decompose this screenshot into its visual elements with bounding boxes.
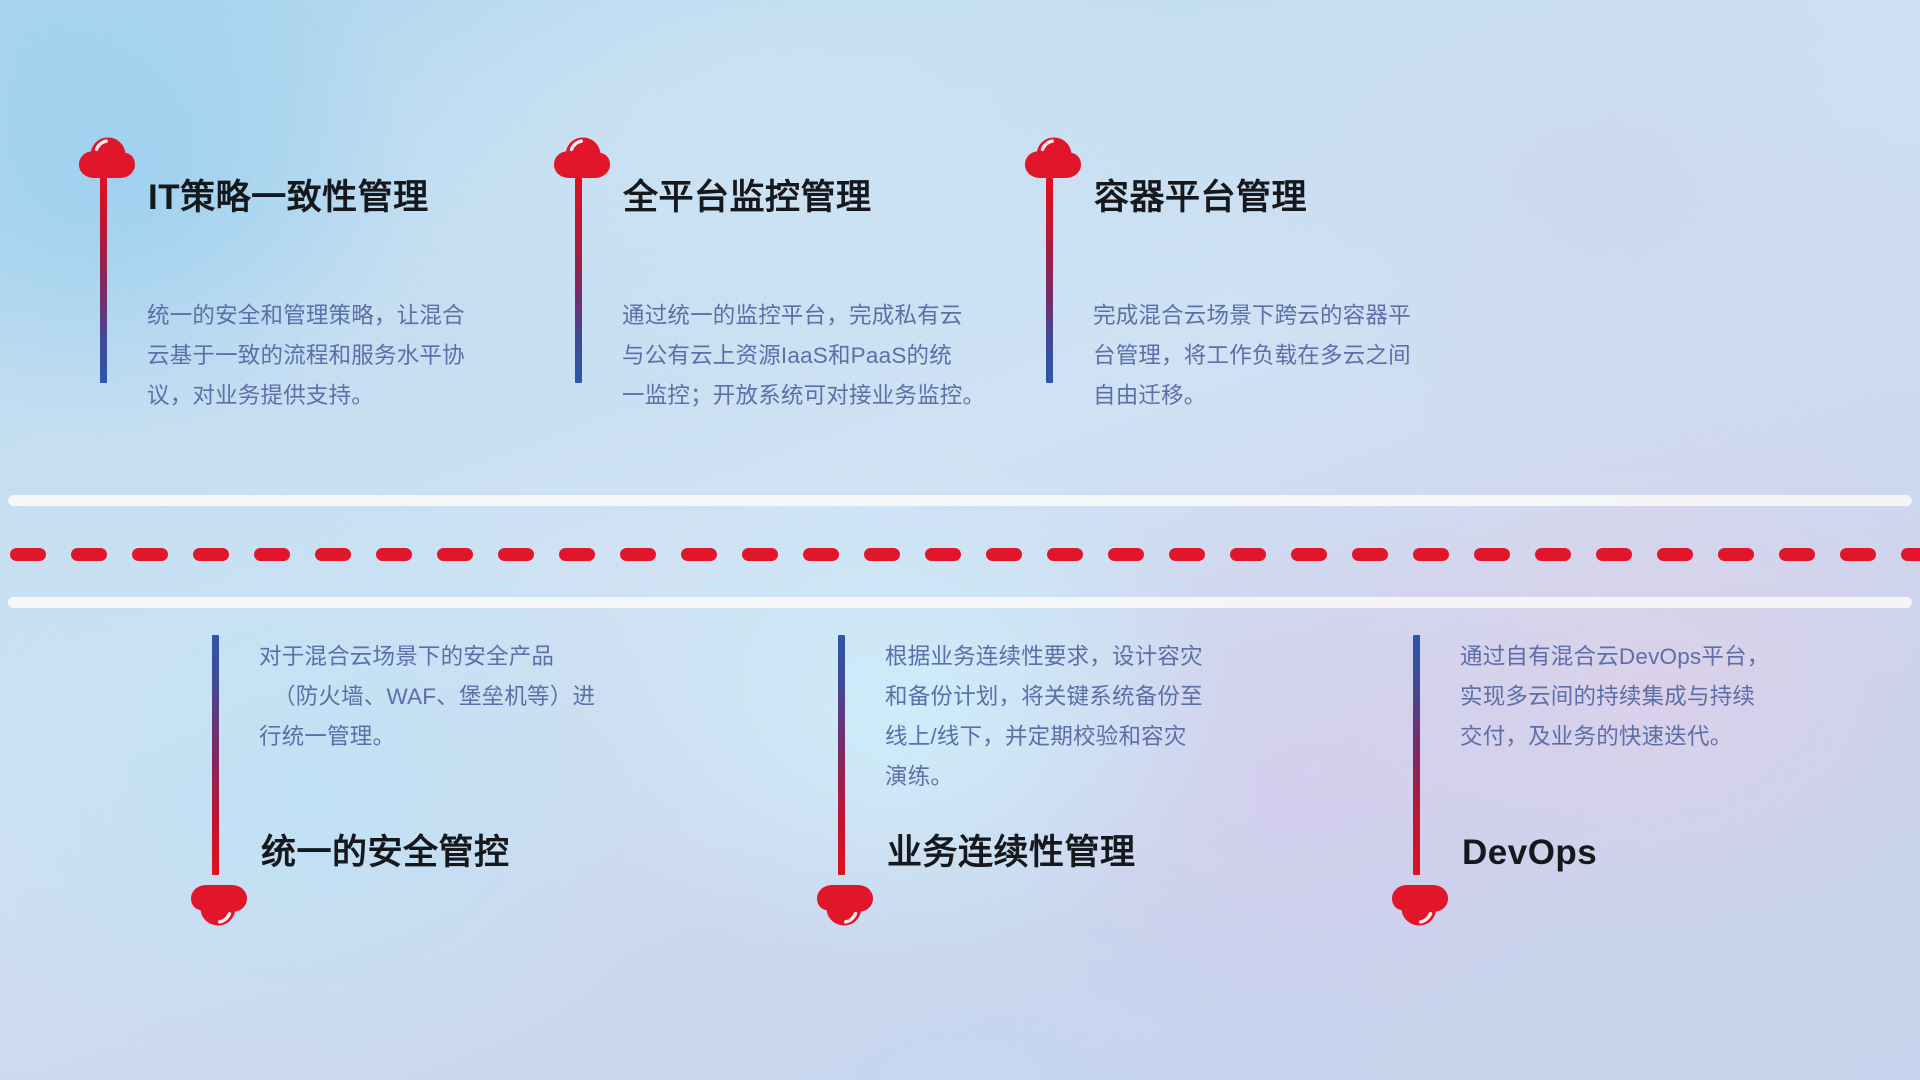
divider-dash	[437, 548, 473, 561]
divider-dash	[1779, 548, 1815, 561]
timeline-stem	[1413, 635, 1420, 875]
card-description: 对于混合云场景下的安全产品 （防火墙、WAF、堡垒机等）进 行统一管理。	[259, 637, 659, 757]
divider-dash	[498, 548, 534, 561]
divider-dash	[925, 548, 961, 561]
description-line: 通过自有混合云DevOps平台，	[1460, 637, 1860, 677]
description-line: 通过统一的监控平台，完成私有云	[622, 296, 1022, 336]
description-line: （防火墙、WAF、堡垒机等）进	[259, 677, 659, 717]
description-line: 自由迁移。	[1093, 376, 1493, 416]
divider-dash	[1352, 548, 1388, 561]
description-line: 实现多云间的持续集成与持续	[1460, 677, 1860, 717]
card-description: 统一的安全和管理策略，让混合 云基于一致的流程和服务水平协 议，对业务提供支持。	[147, 296, 547, 416]
divider-dash	[315, 548, 351, 561]
divider-dash	[620, 548, 656, 561]
divider-rail-top	[8, 495, 1912, 506]
divider-dash	[803, 548, 839, 561]
description-line: 演练。	[885, 757, 1285, 797]
card-description: 根据业务连续性要求，设计容灾 和备份计划，将关键系统备份至 线上/线下，并定期校…	[885, 637, 1285, 797]
card-title: IT策略一致性管理	[148, 180, 429, 215]
cloud-icon	[76, 131, 138, 179]
divider-dash	[742, 548, 778, 561]
description-line: 云基于一致的流程和服务水平协	[147, 336, 547, 376]
divider-dash	[10, 548, 46, 561]
card-title: 业务连续性管理	[887, 835, 1136, 870]
timeline-stem	[212, 635, 219, 875]
divider-dash	[132, 548, 168, 561]
description-line: 根据业务连续性要求，设计容灾	[885, 637, 1285, 677]
description-line: 交付，及业务的快速迭代。	[1460, 717, 1860, 757]
card-title: DevOps	[1462, 835, 1597, 870]
cloud-icon	[814, 884, 876, 932]
timeline-stem	[100, 178, 107, 383]
divider-dashed-line	[0, 545, 1920, 563]
divider-dash	[1230, 548, 1266, 561]
cloud-icon	[1022, 131, 1084, 179]
cloud-icon	[188, 884, 250, 932]
divider-dash	[1718, 548, 1754, 561]
divider-dash	[559, 548, 595, 561]
divider-dash	[1901, 548, 1920, 561]
cloud-icon	[1389, 884, 1451, 932]
description-line: 台管理，将工作负载在多云之间	[1093, 336, 1493, 376]
divider-dash	[864, 548, 900, 561]
cloud-icon	[551, 131, 613, 179]
divider-rail-bottom	[8, 597, 1912, 608]
description-line: 对于混合云场景下的安全产品	[259, 637, 659, 677]
card-title: 容器平台管理	[1094, 180, 1307, 215]
card-description: 通过统一的监控平台，完成私有云 与公有云上资源IaaS和PaaS的统 一监控；开…	[622, 296, 1022, 416]
divider-dash	[193, 548, 229, 561]
timeline-stem	[1046, 178, 1053, 383]
description-line: 行统一管理。	[259, 717, 659, 757]
description-line: 完成混合云场景下跨云的容器平	[1093, 296, 1493, 336]
timeline-stem	[838, 635, 845, 875]
divider-dash	[1108, 548, 1144, 561]
divider-dash	[1169, 548, 1205, 561]
timeline-stem	[575, 178, 582, 383]
divider-dash	[1413, 548, 1449, 561]
divider-dash	[1596, 548, 1632, 561]
card-description: 通过自有混合云DevOps平台， 实现多云间的持续集成与持续 交付，及业务的快速…	[1460, 637, 1860, 757]
description-line: 线上/线下，并定期校验和容灾	[885, 717, 1285, 757]
description-line: 统一的安全和管理策略，让混合	[147, 296, 547, 336]
description-line: 和备份计划，将关键系统备份至	[885, 677, 1285, 717]
divider-dash	[1474, 548, 1510, 561]
divider-dash	[1535, 548, 1571, 561]
divider-dash	[1291, 548, 1327, 561]
description-line: 与公有云上资源IaaS和PaaS的统	[622, 336, 1022, 376]
description-line: 一监控；开放系统可对接业务监控。	[622, 376, 1022, 416]
infographic-canvas: IT策略一致性管理 统一的安全和管理策略，让混合 云基于一致的流程和服务水平协 …	[0, 0, 1920, 1080]
divider-dash	[376, 548, 412, 561]
divider-dash	[254, 548, 290, 561]
divider-dash	[1840, 548, 1876, 561]
card-description: 完成混合云场景下跨云的容器平 台管理，将工作负载在多云之间 自由迁移。	[1093, 296, 1493, 416]
divider-dash	[71, 548, 107, 561]
card-title: 统一的安全管控	[261, 835, 510, 870]
divider-dash	[1657, 548, 1693, 561]
divider-dash	[986, 548, 1022, 561]
card-title: 全平台监控管理	[623, 180, 872, 215]
divider-dash	[681, 548, 717, 561]
description-line: 议，对业务提供支持。	[147, 376, 547, 416]
divider-dash	[1047, 548, 1083, 561]
